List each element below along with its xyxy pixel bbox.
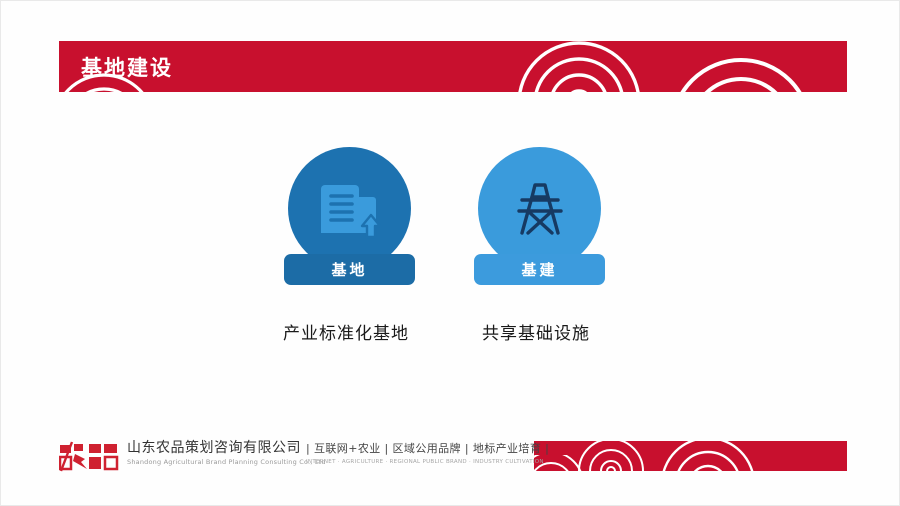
caption-base: 产业标准化基地 [236, 319, 456, 344]
slide-canvas: 基地建设 基地 [0, 0, 900, 506]
building-upload-icon [319, 179, 381, 239]
power-tower-icon [509, 178, 571, 240]
footer: 山东农品策划咨询有限公司 Shandong Agricultural Brand… [1, 431, 900, 491]
tagline: | 互联网+农业 | 区域公用品牌 | 地标产业培育 | INTERNET · … [306, 441, 549, 467]
caption-infrastructure: 共享基础设施 [426, 319, 646, 344]
badge-item-base[interactable]: 基地 [284, 147, 415, 285]
page-title: 基地建设 [81, 52, 173, 82]
tagline-cn: | 互联网+农业 | 区域公用品牌 | 地标产业培育 | [306, 441, 549, 457]
badge-circle-infrastructure [478, 147, 601, 270]
main-content: 基地 基建 产业标准化基地 共享基础设 [1, 141, 900, 371]
footer-red-bar [534, 441, 847, 471]
banner-rings-right [666, 45, 816, 92]
tagline-en: INTERNET · AGRICULTURE · REGIONAL PUBLIC… [306, 457, 549, 467]
badge-circle-base [288, 147, 411, 270]
nongpin-logo-icon [59, 441, 121, 473]
header-banner: 基地建设 [59, 41, 847, 92]
footer-rings-mid [576, 441, 646, 471]
company-name-cn: 山东农品策划咨询有限公司 [127, 440, 326, 457]
badge-label-base: 基地 [284, 254, 415, 285]
company-name-en: Shandong Agricultural Brand Planning Con… [127, 457, 326, 467]
footer-rings-large [658, 441, 758, 471]
company-info: 山东农品策划咨询有限公司 Shandong Agricultural Brand… [127, 440, 326, 467]
badge-label-infrastructure: 基建 [474, 254, 605, 285]
banner-rings-center [514, 41, 644, 92]
badge-item-infrastructure[interactable]: 基建 [474, 147, 605, 285]
